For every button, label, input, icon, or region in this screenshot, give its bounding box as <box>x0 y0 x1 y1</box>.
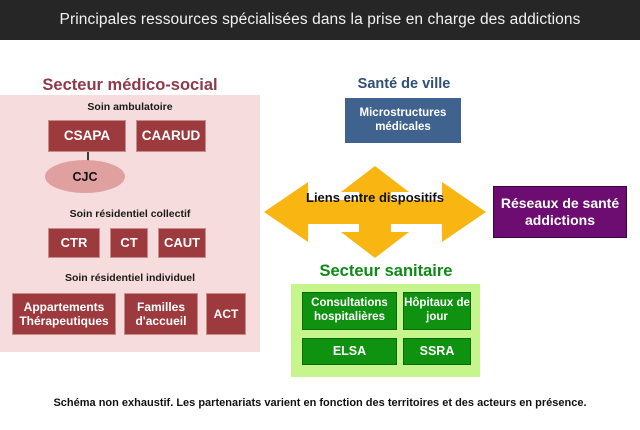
sublabel-soin-residentiel-collectif: Soin résidentiel collectif <box>0 208 260 220</box>
node-familles-daccueil[interactable]: Familles d'accueil <box>124 293 198 335</box>
node-act[interactable]: ACT <box>206 293 246 335</box>
node-cjc[interactable]: CJC <box>45 160 125 193</box>
label-liens-entre-dispositifs: Liens entre dispositifs <box>300 190 450 206</box>
title-bar: Principales ressources spécialisées dans… <box>0 0 640 40</box>
node-csapa[interactable]: CSAPA <box>48 120 126 152</box>
node-caarud[interactable]: CAARUD <box>136 120 206 152</box>
heading-sante-de-ville: Santé de ville <box>330 76 478 92</box>
page-title: Principales ressources spécialisées dans… <box>60 11 581 29</box>
node-ct[interactable]: CT <box>110 228 148 258</box>
node-caut[interactable]: CAUT <box>158 228 206 258</box>
node-ctr[interactable]: CTR <box>48 228 100 258</box>
node-elsa[interactable]: ELSA <box>302 338 397 365</box>
node-ssra[interactable]: SSRA <box>403 338 471 365</box>
node-microstructures-medicales[interactable]: Microstructures médicales <box>345 98 461 143</box>
sublabel-soin-residentiel-individuel: Soin résidentiel individuel <box>0 272 260 284</box>
footer-note: Schéma non exhaustif. Les partenariats v… <box>0 397 640 409</box>
heading-secteur-sanitaire: Secteur sanitaire <box>291 262 481 281</box>
node-appartements-therapeutiques[interactable]: Appartements Thérapeutiques <box>12 293 116 335</box>
node-consultations-hospitalieres[interactable]: Consultations hospitalières <box>302 292 397 330</box>
sublabel-soin-ambulatoire: Soin ambulatoire <box>0 101 260 113</box>
node-reseaux-de-sante-addictions[interactable]: Réseaux de santé addictions <box>493 186 627 238</box>
diagram-canvas: Principales ressources spécialisées dans… <box>0 0 640 430</box>
node-hopitaux-de-jour[interactable]: Hôpitaux de jour <box>403 292 471 330</box>
heading-secteur-medico-social: Secteur médico-social <box>0 76 260 95</box>
quad-arrow-icon <box>264 166 486 258</box>
